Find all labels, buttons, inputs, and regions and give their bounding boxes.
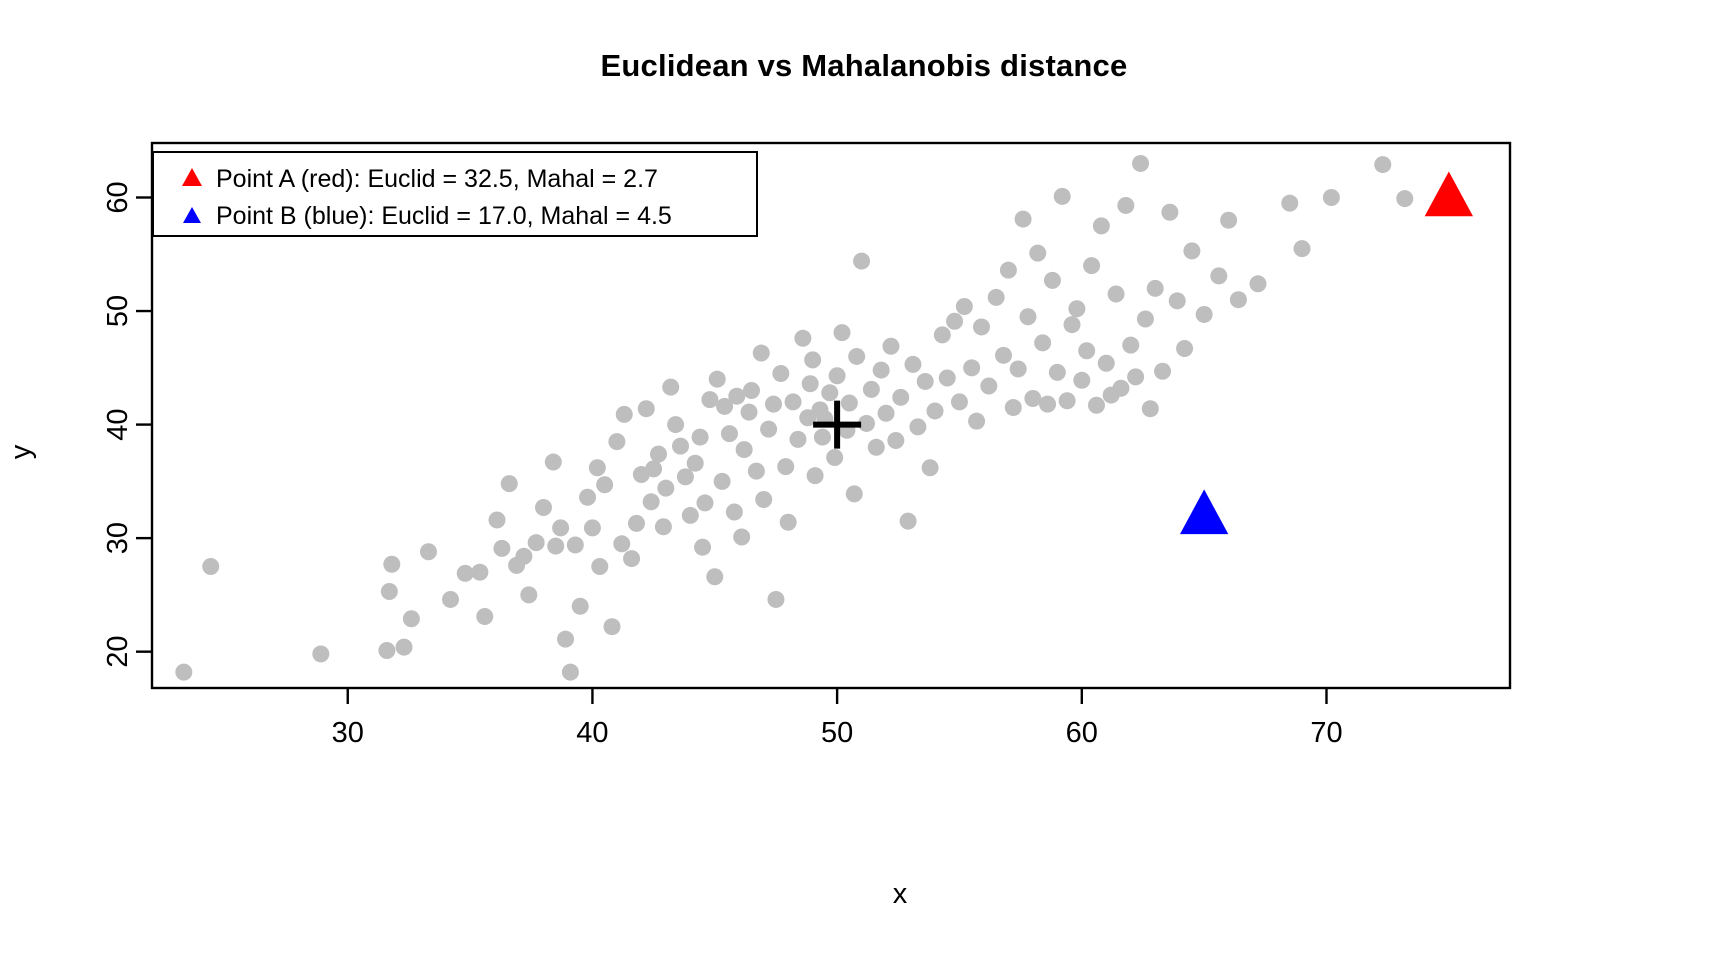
- scatter-point: [403, 610, 420, 627]
- x-axis-title: x: [893, 878, 908, 910]
- scatter-point: [743, 382, 760, 399]
- scatter-point: [493, 540, 510, 557]
- scatter-point: [645, 460, 662, 477]
- scatter-point: [821, 384, 838, 401]
- y-axis: 2030405060: [102, 181, 152, 667]
- scatter-point: [1161, 204, 1178, 221]
- scatter-point: [829, 367, 846, 384]
- scatter-point: [643, 493, 660, 510]
- scatter-point: [755, 491, 772, 508]
- scatter-point: [1137, 310, 1154, 327]
- scatter-point: [650, 446, 667, 463]
- y-tick-label: 20: [102, 636, 134, 668]
- scatter-point: [1147, 280, 1164, 297]
- scatter-point: [1220, 212, 1237, 229]
- scatter-point: [694, 539, 711, 556]
- scatter-point: [1230, 291, 1247, 308]
- scatter-point: [1029, 245, 1046, 262]
- scatter-point: [589, 459, 606, 476]
- scatter-point: [535, 499, 552, 516]
- scatter-point: [572, 598, 589, 615]
- scatter-point: [767, 591, 784, 608]
- scatter-point: [596, 476, 613, 493]
- scatter-point: [772, 365, 789, 382]
- highlight-triangle-blue: [1180, 489, 1228, 534]
- scatter-point: [579, 489, 596, 506]
- scatter-point: [1176, 340, 1193, 357]
- scatter-point: [682, 507, 699, 524]
- scatter-point: [1294, 240, 1311, 257]
- scatter-point: [1323, 189, 1340, 206]
- scatter-point: [904, 356, 921, 373]
- chart-canvas: Euclidean vs Mahalanobis distance 304050…: [0, 0, 1728, 960]
- scatter-point: [853, 253, 870, 270]
- scatter-point: [917, 373, 934, 390]
- scatter-point: [736, 441, 753, 458]
- scatter-point: [657, 480, 674, 497]
- scatter-point: [1132, 155, 1149, 172]
- scatter-point: [1078, 342, 1095, 359]
- scatter-point: [946, 313, 963, 330]
- scatter-point: [951, 393, 968, 410]
- scatter-point: [672, 438, 689, 455]
- scatter-point: [753, 345, 770, 362]
- scatter-point: [760, 421, 777, 438]
- y-tick-label: 30: [102, 522, 134, 554]
- scatter-point: [909, 418, 926, 435]
- scatter-point: [939, 370, 956, 387]
- scatter-point: [175, 664, 192, 681]
- scatter-point: [1122, 337, 1139, 354]
- scatter-point: [1088, 397, 1105, 414]
- scatter-point: [804, 351, 821, 368]
- scatter-point: [628, 515, 645, 532]
- scatter-point: [696, 494, 713, 511]
- scatter-point: [1044, 272, 1061, 289]
- scatter-point: [826, 449, 843, 466]
- y-tick-label: 50: [102, 295, 134, 327]
- scatter-point: [980, 377, 997, 394]
- scatter-point: [748, 463, 765, 480]
- scatter-point: [1034, 334, 1051, 351]
- scatter-point: [520, 586, 537, 603]
- scatter-point: [963, 359, 980, 376]
- scatter-point: [802, 375, 819, 392]
- scatter-point: [900, 513, 917, 530]
- scatter-point: [973, 318, 990, 335]
- scatter-point: [312, 645, 329, 662]
- scatter-point: [501, 475, 518, 492]
- scatter-point: [887, 432, 904, 449]
- scatter-point: [1127, 368, 1144, 385]
- scatter-point: [956, 298, 973, 315]
- scatter-point: [1112, 380, 1129, 397]
- scatter-point: [701, 391, 718, 408]
- scatter-point: [873, 362, 890, 379]
- scatter-point: [623, 550, 640, 567]
- scatter-point: [1068, 300, 1085, 317]
- scatter-point: [1093, 217, 1110, 234]
- scatter-point: [1374, 156, 1391, 173]
- legend-item-point-a: Point A (red): Euclid = 32.5, Mahal = 2.…: [216, 165, 658, 193]
- scatter-point: [709, 371, 726, 388]
- scatter-point: [785, 393, 802, 410]
- scatter-point: [567, 536, 584, 553]
- scatter-point: [420, 543, 437, 560]
- scatter-point: [789, 431, 806, 448]
- scatter-point: [1005, 399, 1022, 416]
- scatter-point: [1098, 355, 1115, 372]
- scatter-point: [562, 664, 579, 681]
- scatter-point: [489, 511, 506, 528]
- scatter-point: [728, 388, 745, 405]
- scatter-point: [1083, 257, 1100, 274]
- scatter-point: [934, 326, 951, 343]
- scatter-point: [706, 568, 723, 585]
- scatter-point: [1196, 306, 1213, 323]
- scatter-point: [1210, 267, 1227, 284]
- scatter-point: [604, 618, 621, 635]
- y-tick-label: 60: [102, 181, 134, 213]
- scatter-point: [814, 429, 831, 446]
- scatter-point: [733, 528, 750, 545]
- scatter-point: [677, 468, 694, 485]
- scatter-point: [608, 433, 625, 450]
- scatter-point: [528, 534, 545, 551]
- scatter-point: [457, 565, 474, 582]
- legend-item-point-b: Point B (blue): Euclid = 17.0, Mahal = 4…: [216, 202, 672, 230]
- scatter-point: [584, 519, 601, 536]
- scatter-point: [841, 395, 858, 412]
- scatter-point: [1249, 275, 1266, 292]
- scatter-point: [1010, 360, 1027, 377]
- scatter-point: [552, 519, 569, 536]
- scatter-point: [383, 556, 400, 573]
- scatter-point: [442, 591, 459, 608]
- scatter-point: [662, 379, 679, 396]
- scatter-point: [765, 396, 782, 413]
- scatter-point: [741, 404, 758, 421]
- scatter-point: [995, 347, 1012, 364]
- scatter-point: [1024, 390, 1041, 407]
- scatter-point: [780, 514, 797, 531]
- scatter-point: [846, 485, 863, 502]
- y-tick-label: 40: [102, 408, 134, 440]
- scatter-point: [1000, 262, 1017, 279]
- scatter-point: [848, 348, 865, 365]
- scatter-point: [202, 558, 219, 575]
- scatter-point: [471, 564, 488, 581]
- scatter-point: [557, 631, 574, 648]
- scatter-point: [863, 381, 880, 398]
- scatter-point: [1281, 195, 1298, 212]
- scatter-point: [1054, 188, 1071, 205]
- scatter-point: [545, 454, 562, 471]
- scatter-point: [476, 608, 493, 625]
- scatter-point: [714, 473, 731, 490]
- scatter-point: [591, 558, 608, 575]
- scatter-point: [1117, 197, 1134, 214]
- scatter-point: [794, 330, 811, 347]
- scatter-point: [687, 455, 704, 472]
- scatter-point: [834, 324, 851, 341]
- scatter-point: [1396, 190, 1413, 207]
- scatter-point: [655, 518, 672, 535]
- scatter-point: [547, 538, 564, 555]
- scatter-point: [1169, 292, 1186, 309]
- scatter-point: [1108, 286, 1125, 303]
- scatter-point: [726, 504, 743, 521]
- scatter-point: [807, 467, 824, 484]
- x-tick-label: 60: [1066, 717, 1098, 749]
- scatter-point: [378, 642, 395, 659]
- scatter-point: [1059, 392, 1076, 409]
- scatter-point: [692, 429, 709, 446]
- scatter-point: [1019, 308, 1036, 325]
- highlight-triangle-red: [1425, 172, 1473, 217]
- scatter-point: [381, 583, 398, 600]
- x-tick-label: 50: [821, 717, 853, 749]
- scatter-point: [396, 639, 413, 656]
- scatter-point: [613, 535, 630, 552]
- scatter-point: [988, 289, 1005, 306]
- scatter-point: [1154, 363, 1171, 380]
- scatter-point: [882, 338, 899, 355]
- scatter-point: [892, 389, 909, 406]
- legend: Point A (red): Euclid = 32.5, Mahal = 2.…: [153, 152, 757, 236]
- scatter-point: [616, 406, 633, 423]
- scatter-point: [1142, 400, 1159, 417]
- scatter-point: [667, 416, 684, 433]
- scatter-point: [1015, 211, 1032, 228]
- x-tick-label: 70: [1310, 717, 1342, 749]
- scatter-point: [515, 548, 532, 565]
- scatter-point: [922, 459, 939, 476]
- scatter-point: [1183, 242, 1200, 259]
- scatter-point: [968, 413, 985, 430]
- scatter-point: [868, 439, 885, 456]
- x-axis: 3040506070: [332, 688, 1343, 749]
- scatter-point: [1039, 396, 1056, 413]
- scatter-point: [878, 405, 895, 422]
- scatter-point: [926, 402, 943, 419]
- scatter-point: [1073, 372, 1090, 389]
- scatter-point: [721, 425, 738, 442]
- x-tick-label: 30: [332, 717, 364, 749]
- x-tick-label: 40: [576, 717, 608, 749]
- scatter-point: [638, 400, 655, 417]
- scatter-point: [1064, 316, 1081, 333]
- y-axis-title: y: [5, 444, 37, 459]
- scatter-point: [1049, 364, 1066, 381]
- scatter-point: [777, 458, 794, 475]
- scatter-plot: 3040506070 2030405060 x y Point A (red):…: [0, 0, 1728, 960]
